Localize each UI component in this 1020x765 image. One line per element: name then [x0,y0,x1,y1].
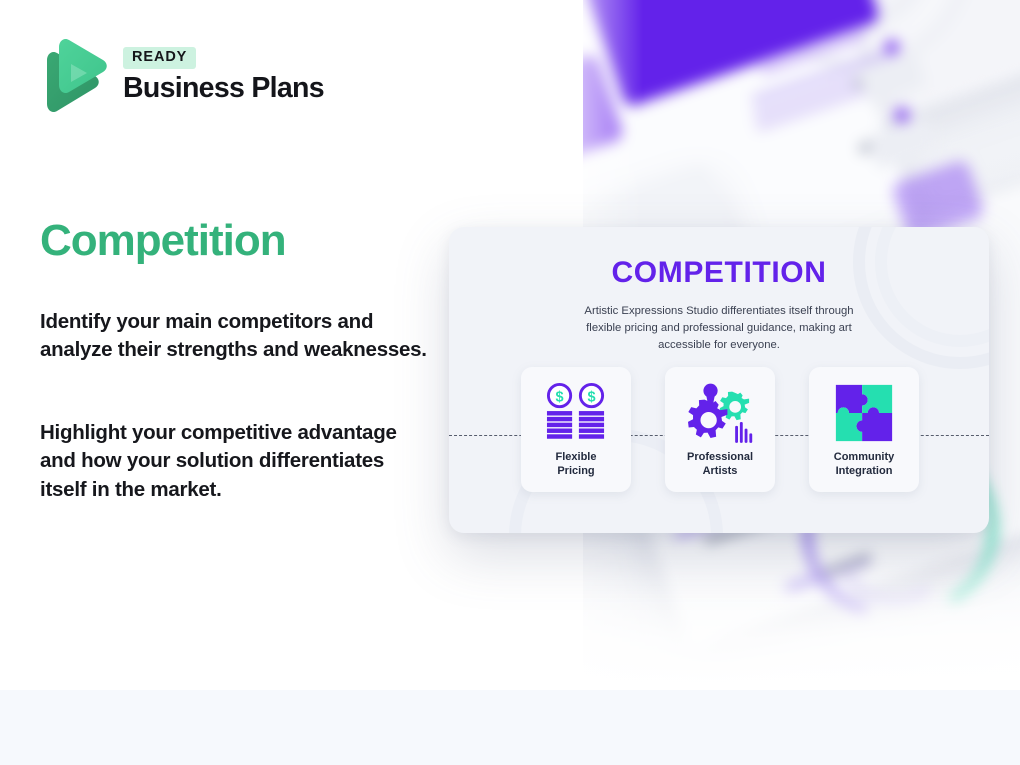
feature-tile-label: Professional Artists [687,450,753,478]
svg-text:$: $ [556,389,564,405]
feature-tile-label-line1: Community [834,450,895,464]
feature-tiles: $ $ [521,367,919,492]
slide-preview-card[interactable]: COMPETITION Artistic Expressions Studio … [449,227,989,533]
slide-subtitle: Artistic Expressions Studio differentiat… [569,303,869,354]
brand-logo-block[interactable]: READY Business Plans [41,38,324,114]
feature-tile-community-integration[interactable]: Community Integration [809,367,919,492]
feature-tile-professional-artists[interactable]: Professional Artists [665,367,775,492]
feature-tile-flexible-pricing[interactable]: $ $ [521,367,631,492]
photo-bottom-fade [583,540,1020,690]
feature-tile-label-line1: Professional [687,450,753,464]
body-paragraph-2: Highlight your competitive advantage and… [40,419,430,504]
brand-text-block: READY Business Plans [123,47,324,104]
puzzle-pieces-icon [834,380,894,446]
feature-tile-label-line2: Pricing [556,464,597,478]
feature-tile-label-line1: Flexible [556,450,597,464]
bottom-band [0,690,1020,765]
svg-text:$: $ [587,389,595,405]
slide-page: READY Business Plans Competition Identif… [0,0,1020,765]
coin-stacks-icon: $ $ [543,380,609,446]
page-title: Competition [40,218,286,264]
feature-tile-label: Community Integration [834,450,895,478]
ready-badge: READY [123,47,196,69]
feature-tile-label: Flexible Pricing [556,450,597,478]
gears-lightbulb-chart-icon [684,380,756,446]
slide-title: COMPETITION [449,258,989,288]
brand-name: Business Plans [123,73,324,104]
play-triangle-logo-icon [41,38,107,114]
feature-tile-label-line2: Integration [834,464,895,478]
body-paragraph-1: Identify your main competitors and analy… [40,308,430,365]
feature-tile-label-line2: Artists [687,464,753,478]
